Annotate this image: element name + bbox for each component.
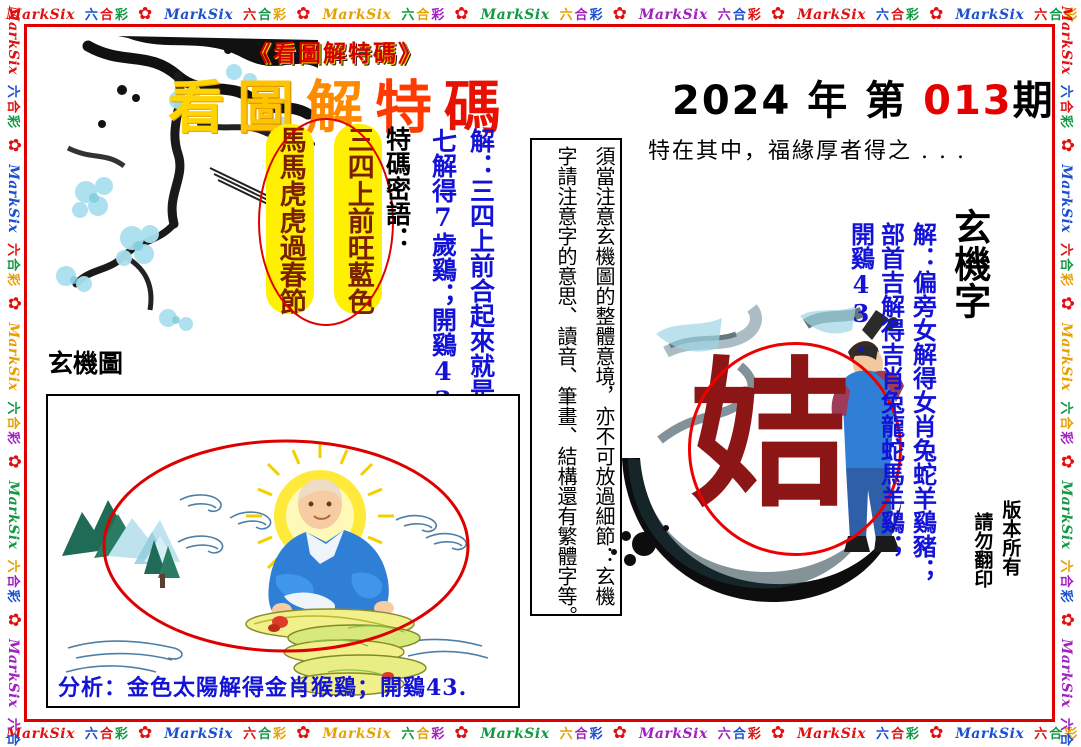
border-cjk-text: 六合彩 <box>397 727 448 742</box>
border-brand-text: MarkSix <box>316 726 397 742</box>
flower-icon: ✿ <box>448 723 474 743</box>
border-cjk-text: 六合彩 <box>397 8 448 23</box>
border-cjk-text: 六合彩 <box>556 8 607 23</box>
title-char-1: 看 <box>168 62 237 144</box>
border-unit: MarkSix六合彩✿ <box>1053 633 1081 747</box>
border-pattern-bottom: MarkSix六合彩✿MarkSix六合彩✿MarkSix六合彩✿MarkSix… <box>0 719 1081 747</box>
border-brand-text: MarkSix <box>1058 633 1074 714</box>
border-pattern-right: MarkSix六合彩✿MarkSix六合彩✿MarkSix六合彩✿MarkSix… <box>1053 0 1081 747</box>
flower-icon: ✿ <box>290 723 316 743</box>
border-cjk-text: 六合彩 <box>714 8 765 23</box>
poster-root: MarkSix六合彩✿MarkSix六合彩✿MarkSix六合彩✿MarkSix… <box>0 0 1081 747</box>
border-unit: MarkSix六合彩✿ <box>1053 158 1081 316</box>
riddle-column-left: 馬馬虎虎過春節 <box>266 124 314 314</box>
border-cjk-text: 六合彩 <box>5 81 20 132</box>
flower-icon: ✿ <box>4 132 24 158</box>
border-brand-text: MarkSix <box>1058 475 1074 556</box>
flower-icon: ✿ <box>607 4 633 24</box>
issue-line: 2024 年 第 013期 <box>672 68 1055 126</box>
border-cjk-text: 六合彩 <box>1058 239 1073 290</box>
border-cjk-text: 六合彩 <box>81 727 132 742</box>
border-cjk-text: 六合彩 <box>872 727 923 742</box>
border-brand-text: MarkSix <box>791 7 872 23</box>
border-bottom: MarkSix六合彩✿MarkSix六合彩✿MarkSix六合彩✿MarkSix… <box>0 719 1081 747</box>
issue-prefix: 2024 年 第 <box>672 78 907 124</box>
border-cjk-text: 六合彩 <box>1058 81 1073 132</box>
flower-icon: ✿ <box>1057 448 1077 474</box>
border-cjk-text: 六合彩 <box>1058 556 1073 607</box>
border-cjk-text: 六合彩 <box>5 397 20 448</box>
border-cjk-text: 六合彩 <box>81 8 132 23</box>
border-cjk-text: 六合彩 <box>5 714 20 747</box>
border-brand-text: MarkSix <box>1058 158 1074 239</box>
analysis-text: 分析：金色太陽解得金肖猴鷄；開鷄43. <box>58 670 467 702</box>
riddle-label: 特碼密語： <box>384 126 410 251</box>
issue-number: 013 <box>923 78 1013 124</box>
border-unit: MarkSix六合彩✿ <box>633 719 791 747</box>
border-cjk-text: 六合彩 <box>1058 714 1073 747</box>
border-right: MarkSix六合彩✿MarkSix六合彩✿MarkSix六合彩✿MarkSix… <box>1053 0 1081 747</box>
border-unit: MarkSix六合彩✿ <box>316 719 474 747</box>
border-cjk-text: 六合彩 <box>1058 397 1073 448</box>
note-line-2: 字請注意字的意思、讀音、筆畫、結構還有繁體字等。 <box>556 146 576 626</box>
border-brand-text: MarkSix <box>949 7 1030 23</box>
flower-icon: ✿ <box>765 723 791 743</box>
issue-suffix: 期 <box>1013 78 1055 124</box>
border-brand-text: MarkSix <box>1058 0 1074 81</box>
flower-icon: ✿ <box>290 4 316 24</box>
xuanji-character-red-circle <box>688 342 902 556</box>
border-brand-text: MarkSix <box>5 0 21 81</box>
border-unit: MarkSix六合彩✿ <box>158 719 316 747</box>
flower-icon: ✿ <box>1057 290 1077 316</box>
border-brand-text: MarkSix <box>158 7 239 23</box>
picture-panel: 分析：金色太陽解得金肖猴鷄；開鷄43. <box>46 394 520 708</box>
copyright-line-2: 請勿翻印 <box>972 512 991 588</box>
flower-icon: ✿ <box>132 4 158 24</box>
border-unit: MarkSix六合彩✿ <box>1053 0 1081 158</box>
border-unit: MarkSix六合彩✿ <box>475 719 633 747</box>
border-unit: MarkSix六合彩✿ <box>1053 475 1081 633</box>
flower-icon: ✿ <box>765 4 791 24</box>
border-cjk-text: 六合彩 <box>714 727 765 742</box>
border-cjk-text: 六合彩 <box>239 8 290 23</box>
xuanji-zi-title: 玄機字 <box>950 208 988 319</box>
explain-line-1: 解：三四上前合起來就是 <box>468 128 494 403</box>
border-brand-text: MarkSix <box>949 726 1030 742</box>
border-brand-text: MarkSix <box>5 158 21 239</box>
border-brand-text: MarkSix <box>316 7 397 23</box>
monk-scene-svg <box>48 396 518 706</box>
flower-icon: ✿ <box>448 4 474 24</box>
border-brand-text: MarkSix <box>475 7 556 23</box>
border-cjk-text: 六合彩 <box>5 239 20 290</box>
border-brand-text: MarkSix <box>158 726 239 742</box>
border-cjk-text: 六合彩 <box>556 727 607 742</box>
riddle-block: 三四上前旺藍色 馬馬虎虎過春節 <box>266 124 382 314</box>
picture-panel-label: 玄機圖 <box>48 344 123 380</box>
border-brand-text: MarkSix <box>475 726 556 742</box>
flower-icon: ✿ <box>4 607 24 633</box>
riddle-text-left: 馬馬虎虎過春節 <box>276 126 304 315</box>
riddle-text-right: 三四上前旺藍色 <box>344 126 372 315</box>
flower-icon: ✿ <box>4 290 24 316</box>
xuanji-explain-line-3: 開鷄43. <box>848 222 872 357</box>
xuanji-explain-line-1: 解：偏旁女解得女肖兔蛇羊鷄豬； <box>910 222 934 582</box>
slogan: 特在其中，福緣厚者得之 . . . <box>648 133 966 165</box>
border-brand-text: MarkSix <box>633 7 714 23</box>
flower-icon: ✿ <box>132 723 158 743</box>
flower-icon: ✿ <box>607 723 633 743</box>
border-cjk-text: 六合彩 <box>5 556 20 607</box>
flower-icon: ✿ <box>923 4 949 24</box>
border-brand-text: MarkSix <box>1058 316 1074 397</box>
copyright-line-1: 版本所有 <box>1000 500 1019 576</box>
xuanji-explain-line-2: 部首吉解得吉肖兔龍蛇馬羊鷄； <box>878 222 902 558</box>
flower-icon: ✿ <box>923 723 949 743</box>
riddle-column-right: 三四上前旺藍色 <box>334 124 382 314</box>
flower-icon: ✿ <box>1057 607 1077 633</box>
flower-icon: ✿ <box>1057 132 1077 158</box>
border-cjk-text: 六合彩 <box>872 8 923 23</box>
border-cjk-text: 六合彩 <box>239 727 290 742</box>
border-brand-text: MarkSix <box>5 475 21 556</box>
border-brand-text: MarkSix <box>633 726 714 742</box>
border-unit: MarkSix六合彩✿ <box>791 719 949 747</box>
border-brand-text: MarkSix <box>791 726 872 742</box>
border-unit: MarkSix六合彩✿ <box>1053 316 1081 474</box>
flower-icon: ✿ <box>4 448 24 474</box>
border-brand-text: MarkSix <box>5 316 21 397</box>
border-brand-text: MarkSix <box>5 633 21 714</box>
